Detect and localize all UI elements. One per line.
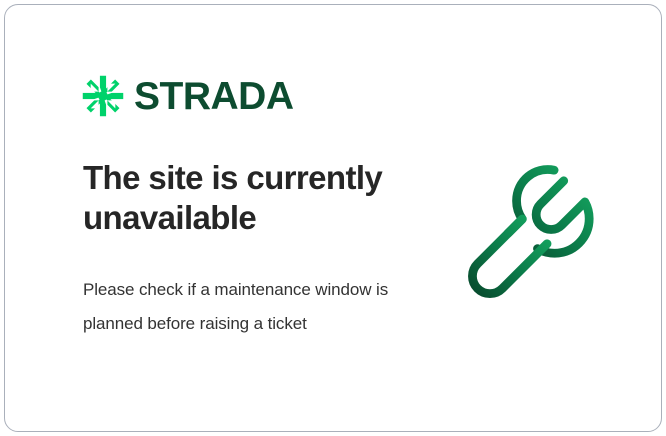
error-page: STRADA The site is currently unavailable… <box>0 0 666 436</box>
page-title: The site is currently unavailable <box>83 158 433 238</box>
strada-asterisk-icon <box>81 74 125 118</box>
brand-wordmark: STRADA <box>134 77 294 116</box>
brand-logo: STRADA <box>81 73 294 119</box>
error-card: STRADA The site is currently unavailable… <box>4 4 662 432</box>
page-description: Please check if a maintenance window is … <box>83 273 393 341</box>
